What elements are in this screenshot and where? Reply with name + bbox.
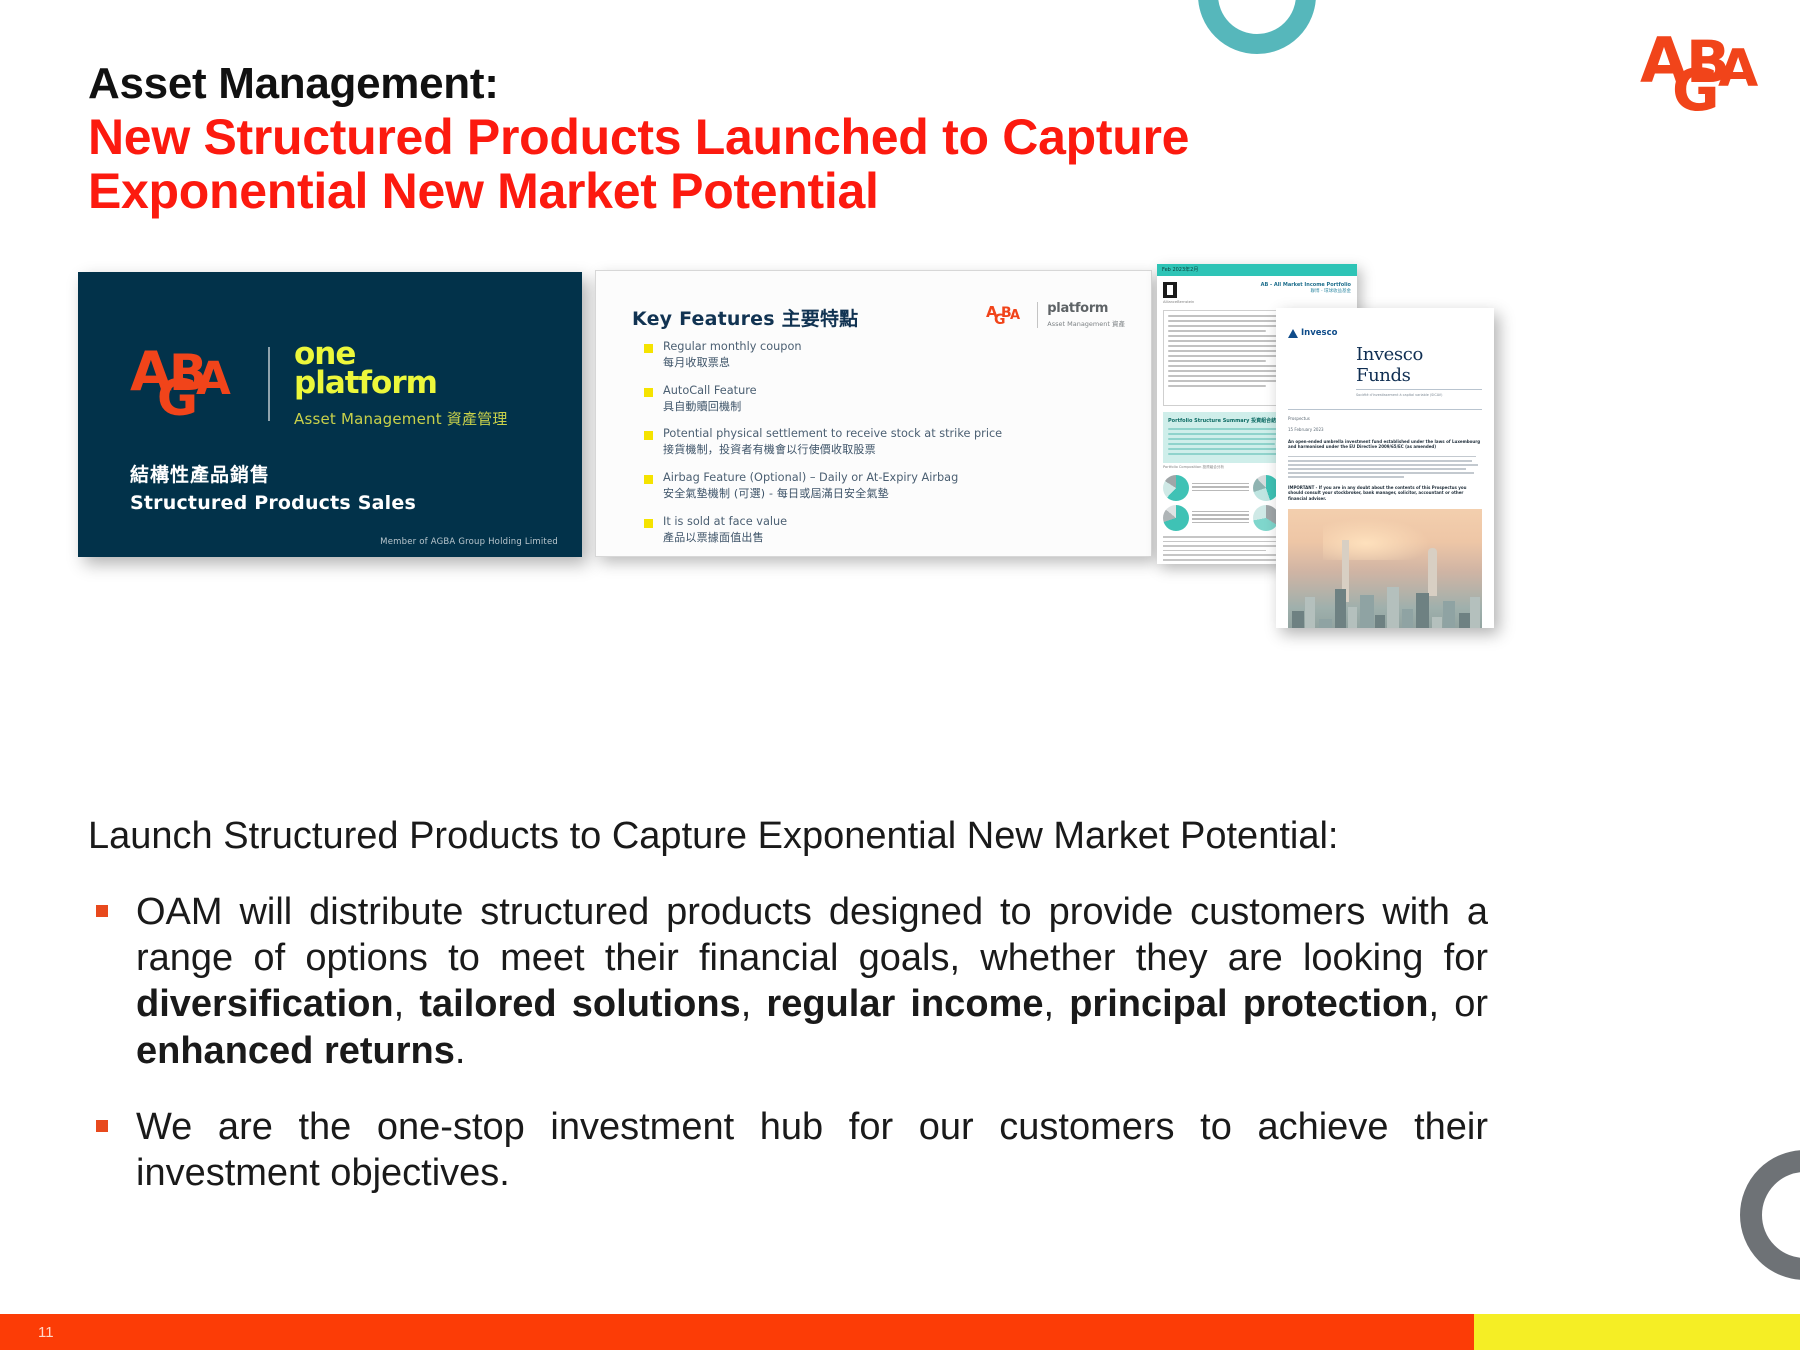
title-line-2: Exponential New Market Potential <box>88 164 1508 218</box>
feature-en: AutoCall Feature <box>663 384 757 397</box>
bullet-text-1: We are the one-stop investment hub for o… <box>136 1106 1488 1194</box>
cover-card: A G B A one platform Asset Management 資產… <box>78 272 582 557</box>
cover-heading-en: Structured Products Sales <box>130 492 416 514</box>
logo-divider <box>1037 302 1038 328</box>
hong-kong-skyline-photo <box>1288 509 1482 628</box>
invesco-brand-text: Invesco <box>1301 328 1337 338</box>
divider <box>1288 409 1482 410</box>
feature-en: Airbag Feature (Optional) – Daily or At-… <box>663 471 958 484</box>
invesco-triangle-icon <box>1288 329 1298 338</box>
grey-circle-decoration <box>1740 1150 1800 1280</box>
platform-logo-subtext: Asset Management 資產 <box>1047 318 1125 328</box>
body-copy: Launch Structured Products to Capture Ex… <box>88 815 1488 1227</box>
sun-glow <box>1323 518 1430 560</box>
bullet-list: OAM will distribute structured products … <box>88 889 1488 1197</box>
feature-en: Regular monthly coupon <box>663 340 802 353</box>
svg-text:A: A <box>196 352 231 405</box>
factsheet-date: Feb 2023年2月 <box>1157 264 1357 273</box>
title-line-1: New Structured Products Launched to Capt… <box>88 110 1508 164</box>
list-item: OAM will distribute structured products … <box>88 889 1488 1074</box>
pie-chart <box>1163 475 1249 501</box>
invesco-subtitle: Société d'investissement à capital varia… <box>1356 393 1482 397</box>
feature-en: Potential physical settlement to receive… <box>663 427 1002 440</box>
vertical-divider <box>268 347 270 421</box>
platform-logo-lockup: A G B A platform Asset Management 資產 <box>986 301 1125 328</box>
key-features-title: Key Features 主要特點 <box>632 304 858 331</box>
feature-en: It is sold at face value <box>663 515 787 528</box>
bullet-square-icon <box>644 519 653 528</box>
factsheet-microcopy: AllianceBernstein <box>1157 300 1357 304</box>
list-item: We are the one-stop investment hub for o… <box>88 1104 1488 1197</box>
invesco-doc-date: 15 February 2023 <box>1288 427 1482 432</box>
agba-logo: A G B A <box>1640 30 1775 120</box>
lead-paragraph: Launch Structured Products to Capture Ex… <box>88 815 1488 859</box>
footer-bar-orange <box>0 1314 1474 1350</box>
fund-house-logo-icon <box>1163 282 1177 298</box>
feature-zh: 每月收取票息 <box>663 355 802 371</box>
agba-logo-icon: A G B A <box>130 345 242 423</box>
agba-logo-icon: A G B A <box>986 304 1028 326</box>
footer-bar-yellow <box>1474 1314 1800 1350</box>
feature-zh: 接貨機制，投資者有機會以行使價收取股票 <box>663 442 1002 458</box>
page-title: Asset Management: New Structured Product… <box>88 62 1508 218</box>
feature-zh: 產品以票據面值出售 <box>663 530 787 546</box>
pie-chart <box>1163 505 1249 531</box>
invesco-notice: An open-ended umbrella investment fund e… <box>1288 439 1482 450</box>
invesco-doc-label: Prospectus <box>1288 416 1482 421</box>
list-item: AutoCall Feature具自動贖回機制 <box>644 383 1114 415</box>
key-features-list: Regular monthly coupon每月收取票息 AutoCall Fe… <box>644 339 1114 557</box>
platform-wordmark: platform <box>294 369 508 399</box>
list-item: Potential physical settlement to receive… <box>644 426 1114 458</box>
invesco-paragraph <box>1288 456 1482 478</box>
feature-zh: 安全氣墊機制 (可選) - 每日或屆滿日安全氣墊 <box>663 486 958 502</box>
factsheet-title-row: AB - All Market Income Portfolio 聯博 - 環球… <box>1157 276 1357 298</box>
invesco-brochure-card: Invesco Invesco Funds Société d'investis… <box>1276 308 1494 628</box>
cover-heading-zh: 結構性產品銷售 <box>130 460 270 487</box>
list-item: Regular monthly coupon每月收取票息 <box>644 339 1114 371</box>
page-number: 11 <box>38 1324 54 1341</box>
key-features-card: Key Features 主要特點 A G B A platform Asset… <box>595 270 1152 557</box>
teal-circle-decoration <box>1198 0 1316 54</box>
feature-zh: 具自動贖回機制 <box>663 399 757 415</box>
factsheet-header-bar: Feb 2023年2月 <box>1157 264 1357 276</box>
list-item: Airbag Feature (Optional) – Daily or At-… <box>644 470 1114 502</box>
image-strip: A G B A one platform Asset Management 資產… <box>0 250 1800 650</box>
cover-subtitle: Asset Management 資產管理 <box>294 408 508 429</box>
slide-root: A G B A Asset Management: New Structured… <box>0 0 1800 1350</box>
factsheet-product-zh: 聯博 - 環球收益基金 <box>1261 288 1351 294</box>
invesco-title: Invesco Funds <box>1356 344 1482 386</box>
invesco-important-note: IMPORTANT - If you are in any doubt abou… <box>1288 485 1482 501</box>
cover-brand-lockup: A G B A one platform Asset Management 資產… <box>130 340 508 429</box>
bullet-square-icon <box>644 388 653 397</box>
bullet-square-icon <box>644 475 653 484</box>
bullet-square-icon <box>644 431 653 440</box>
platform-logo-text: platform <box>1047 301 1125 316</box>
svg-text:A: A <box>1010 308 1020 323</box>
svg-text:A: A <box>1718 39 1758 99</box>
list-item: It is sold at face value產品以票據面值出售 <box>644 514 1114 546</box>
divider <box>1356 389 1482 390</box>
cover-footer-note: Member of AGBA Group Holding Limited <box>380 537 558 547</box>
invesco-logo: Invesco <box>1288 328 1337 338</box>
bullet-square-icon <box>644 344 653 353</box>
bullet-text-0: OAM will distribute structured products … <box>136 891 1488 1072</box>
title-eyebrow: Asset Management: <box>88 62 1508 106</box>
